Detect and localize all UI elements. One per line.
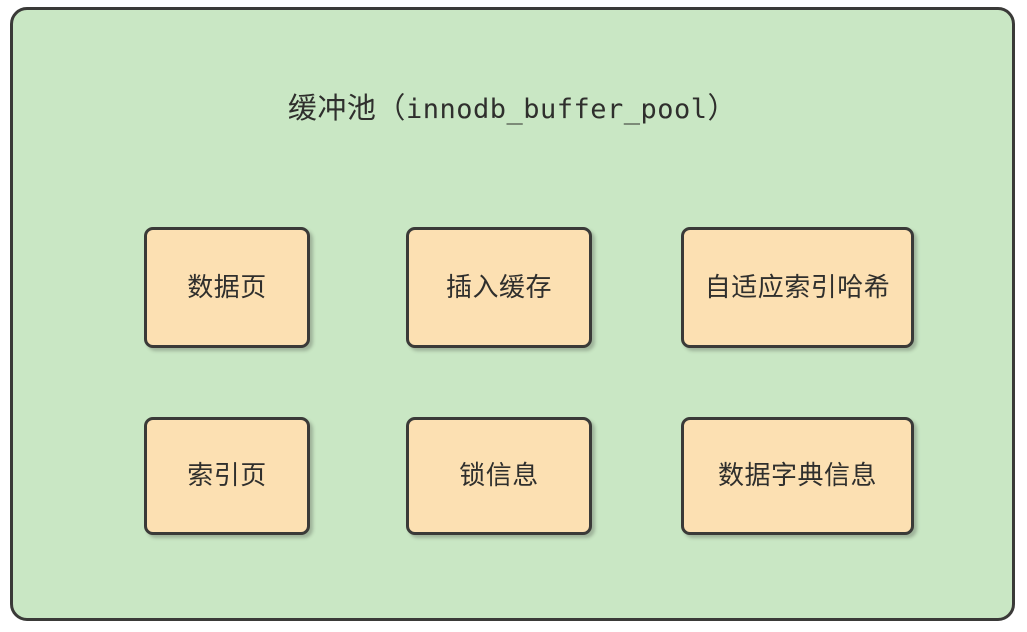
component-box-insert-buffer: 插入缓存 xyxy=(406,227,592,348)
component-label: 锁信息 xyxy=(459,461,539,491)
component-box-index-page: 索引页 xyxy=(144,417,310,535)
component-box-adaptive-hash-index: 自适应索引哈希 xyxy=(681,227,914,348)
component-box-data-dictionary-info: 数据字典信息 xyxy=(681,417,914,535)
diagram-canvas: 缓冲池（innodb_buffer_pool） 数据页 插入缓存 自适应索引哈希… xyxy=(0,0,1027,632)
component-box-lock-info: 锁信息 xyxy=(406,417,592,535)
buffer-pool-container: 缓冲池（innodb_buffer_pool） 数据页 插入缓存 自适应索引哈希… xyxy=(10,7,1015,621)
component-label: 数据字典信息 xyxy=(718,461,877,491)
component-label: 索引页 xyxy=(187,461,267,491)
component-label: 自适应索引哈希 xyxy=(705,273,891,303)
buffer-pool-title: 缓冲池（innodb_buffer_pool） xyxy=(13,88,1012,130)
component-box-data-page: 数据页 xyxy=(144,227,310,348)
buffer-pool-title-cjk-close: ） xyxy=(708,91,738,125)
buffer-pool-title-parameter: innodb_buffer_pool xyxy=(406,94,708,125)
component-label: 数据页 xyxy=(187,273,267,303)
buffer-pool-title-cjk-open: 缓冲池（ xyxy=(288,91,406,125)
component-label: 插入缓存 xyxy=(446,273,552,303)
